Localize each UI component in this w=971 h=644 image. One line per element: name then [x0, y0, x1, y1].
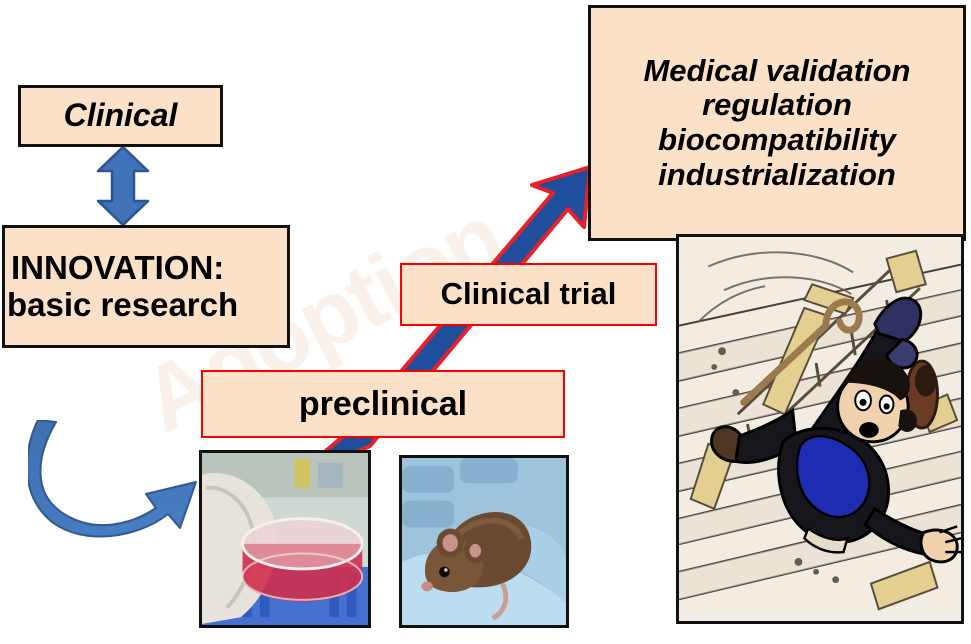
box-innovation-line1: INNOVATION:	[0, 250, 293, 287]
box-clinical[interactable]: Clinical	[18, 85, 223, 147]
box-innovation[interactable]: INNOVATION: basic research	[2, 225, 290, 348]
image-cartoon-falling-man	[676, 234, 964, 624]
box-clinical-trial-label: Clinical trial	[441, 277, 617, 312]
box-innovation-line2: basic research	[3, 287, 289, 324]
box-medical-line3: biocompatibility	[591, 123, 963, 158]
double-headed-arrow-icon	[92, 145, 154, 227]
box-preclinical[interactable]: preclinical	[201, 370, 565, 438]
diagram-canvas: Adoption Clinical	[0, 0, 971, 644]
image-lab-mouse	[399, 455, 569, 628]
box-clinical-label: Clinical	[64, 98, 178, 134]
image-petri-dish	[199, 450, 371, 628]
box-medical-line4: industrialization	[591, 158, 963, 193]
box-medical-validation[interactable]: Medical validation regulation biocompati…	[588, 5, 966, 241]
box-medical-line2: regulation	[591, 88, 963, 123]
box-medical-line1: Medical validation	[591, 54, 963, 89]
box-clinical-trial[interactable]: Clinical trial	[400, 263, 657, 326]
box-preclinical-label: preclinical	[299, 385, 467, 423]
curved-arrow-icon	[28, 420, 228, 545]
